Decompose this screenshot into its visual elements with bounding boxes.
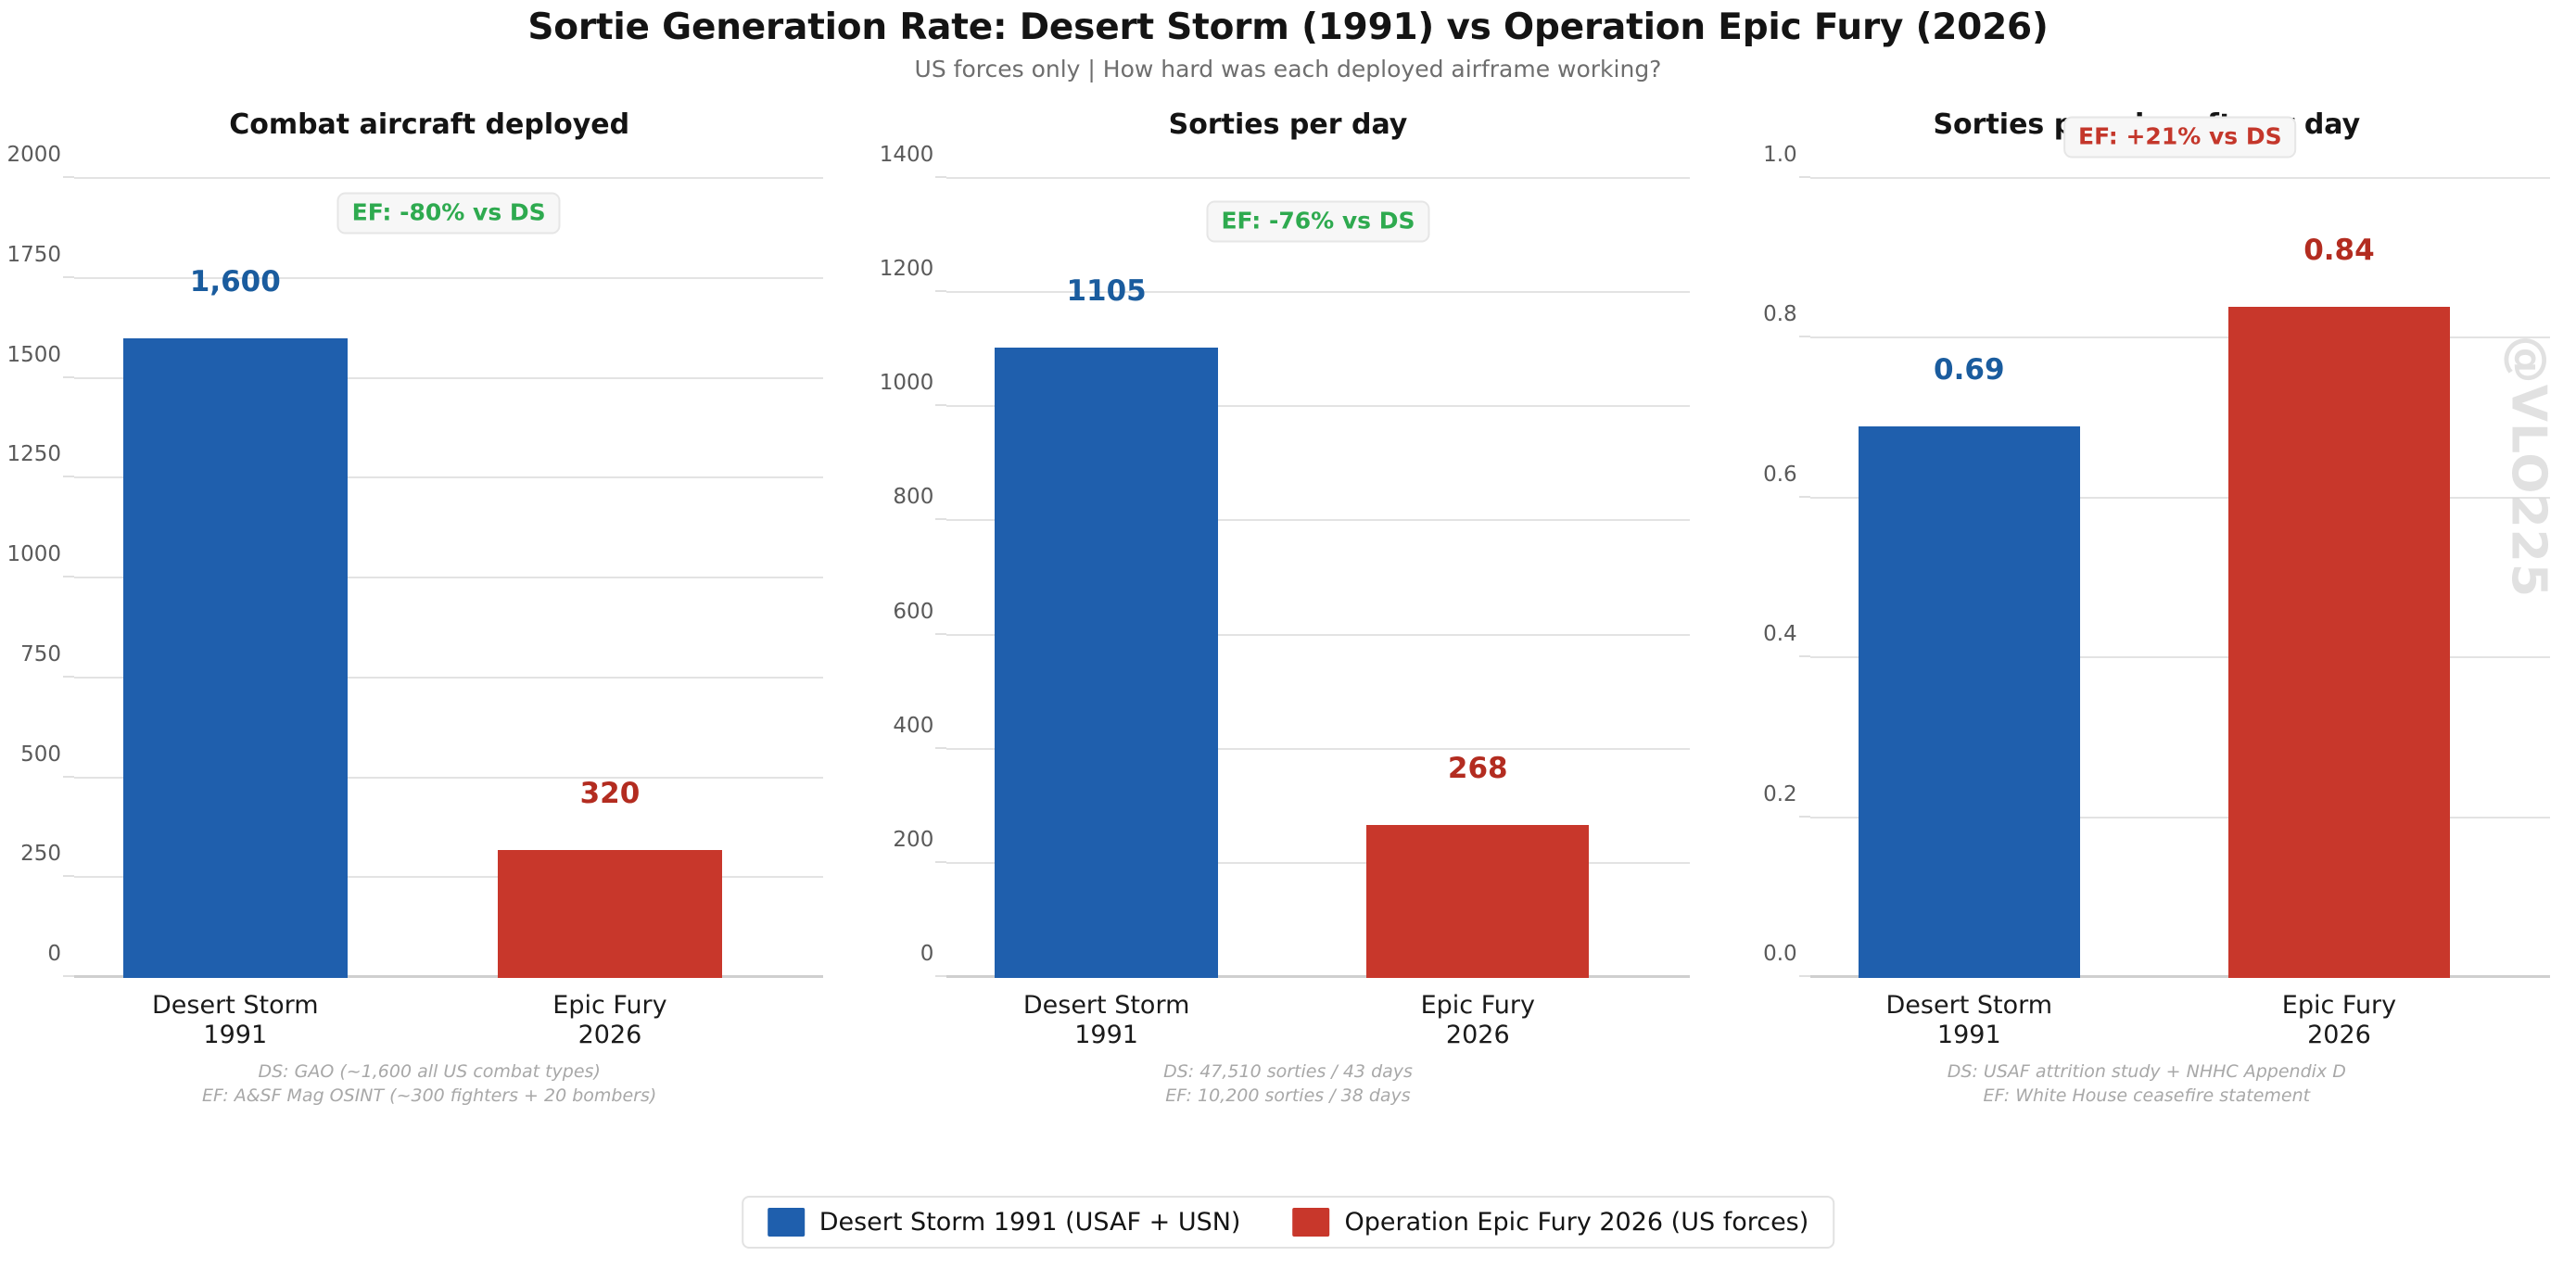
y-tick-mark — [1799, 816, 1810, 818]
panel-footnote: DS: 47,510 sorties / 43 daysEF: 10,200 s… — [858, 1060, 1717, 1108]
y-tick-mark — [63, 676, 74, 678]
y-tick-mark — [63, 476, 74, 477]
legend-item[interactable]: Desert Storm 1991 (USAF + USN) — [768, 1208, 1241, 1237]
y-tick-label: 750 — [20, 642, 61, 666]
x-tick-label: Epic Fury2026 — [2282, 991, 2396, 1050]
y-tick-mark — [63, 875, 74, 877]
y-tick-mark — [935, 518, 946, 520]
y-tick-mark — [63, 776, 74, 778]
y-tick-label: 1750 — [6, 243, 61, 267]
bar-value-label: 1105 — [1066, 277, 1146, 306]
bar-value-label: 1,600 — [190, 268, 281, 297]
y-tick-label: 1200 — [880, 257, 934, 281]
y-tick-label: 1400 — [880, 143, 934, 167]
y-tick-label: 1.0 — [1763, 143, 1797, 167]
y-tick-label: 0 — [47, 942, 61, 966]
bar-value-label: 320 — [580, 780, 641, 808]
x-axis-labels: Desert Storm1991Epic Fury2026 — [946, 978, 1689, 1071]
y-tick-label: 200 — [893, 828, 933, 852]
figure-subtitle: US forces only | How hard was each deplo… — [0, 57, 2576, 81]
y-tick-mark — [63, 576, 74, 577]
y-tick-label: 800 — [893, 485, 933, 509]
panel-footnote: DS: USAF attrition study + NHHC Appendix… — [1718, 1060, 2576, 1108]
footnote-line: DS: 47,510 sorties / 43 days — [858, 1060, 1717, 1084]
bar-ds[interactable] — [995, 348, 1217, 978]
plot-area: 0.00.20.40.60.81.0 0.690.84EF: +21% vs D… — [1810, 179, 2550, 978]
y-tick-label: 1500 — [6, 343, 61, 367]
bar-value-label: 0.69 — [1934, 356, 2005, 385]
x-axis-labels: Desert Storm1991Epic Fury2026 — [1810, 978, 2550, 1071]
y-tick-mark — [935, 176, 946, 178]
legend-item[interactable]: Operation Epic Fury 2026 (US forces) — [1292, 1208, 1808, 1237]
x-tick-label: Desert Storm1991 — [1886, 991, 2053, 1050]
y-tick-mark — [935, 975, 946, 977]
bar-ef[interactable] — [498, 850, 722, 978]
footnote-line: DS: USAF attrition study + NHHC Appendix… — [1718, 1060, 2576, 1084]
panel-title: Sorties per day — [858, 97, 1717, 139]
footnote-line: EF: White House ceasefire statement — [1718, 1084, 2576, 1108]
y-tick-mark — [1799, 176, 1810, 178]
y-tick-label: 0.2 — [1763, 782, 1797, 806]
y-tick-mark — [63, 176, 74, 178]
plot-area: 0200400600800100012001400 1105268EF: -76… — [946, 179, 1689, 978]
chart-panels: Combat aircraft deployed 025050075010001… — [0, 97, 2576, 1136]
y-tick-mark — [935, 861, 946, 863]
bar-ds[interactable] — [1859, 426, 2080, 978]
y-tick-label: 1000 — [880, 371, 934, 395]
footnote-line: EF: 10,200 sorties / 38 days — [858, 1084, 1717, 1108]
y-tick-label: 500 — [20, 742, 61, 767]
footnote-line: DS: GAO (~1,600 all US combat types) — [0, 1060, 858, 1084]
bar-ds[interactable] — [123, 338, 348, 978]
panel-footnote: DS: GAO (~1,600 all US combat types)EF: … — [0, 1060, 858, 1108]
y-tick-label: 1000 — [6, 542, 61, 566]
y-tick-label: 0.6 — [1763, 463, 1797, 487]
y-tick-mark — [1799, 655, 1810, 657]
panel-sorties-per-day: Sorties per day 020040060080010001200140… — [858, 97, 1717, 1136]
bar-value-label: 268 — [1448, 755, 1508, 783]
panel-combat-aircraft-deployed: Combat aircraft deployed 025050075010001… — [0, 97, 858, 1136]
bars: 0.690.84EF: +21% vs DS — [1810, 179, 2550, 978]
panel-sorties-per-aircraft-per-day: Sorties per aircraft per day 0.00.20.40.… — [1718, 97, 2576, 1136]
y-tick-label: 0.4 — [1763, 622, 1797, 646]
y-tick-label: 600 — [893, 600, 933, 624]
y-tick-mark — [935, 633, 946, 635]
y-tick-mark — [1799, 336, 1810, 337]
bars: 1,600320EF: -80% vs DS — [74, 179, 823, 978]
y-tick-mark — [1799, 975, 1810, 977]
legend-label: Desert Storm 1991 (USAF + USN) — [819, 1210, 1241, 1235]
y-tick-label: 0.0 — [1763, 942, 1797, 966]
x-tick-label: Desert Storm1991 — [1023, 991, 1190, 1050]
y-tick-mark — [935, 747, 946, 749]
bar-ef[interactable] — [1366, 825, 1589, 978]
bar-value-label: 0.84 — [2303, 236, 2375, 265]
y-tick-label: 0 — [920, 942, 934, 966]
watermark: @VLO225 — [2500, 336, 2556, 598]
legend-swatch — [768, 1208, 805, 1237]
x-axis-labels: Desert Storm1991Epic Fury2026 — [74, 978, 823, 1071]
chart-legend: Desert Storm 1991 (USAF + USN)Operation … — [742, 1196, 1835, 1249]
y-tick-label: 1250 — [6, 442, 61, 466]
plot-area: 025050075010001250150017502000 1,600320E… — [74, 179, 823, 978]
bars: 1105268EF: -76% vs DS — [946, 179, 1689, 978]
y-tick-mark — [63, 975, 74, 977]
y-tick-label: 400 — [893, 714, 933, 738]
y-tick-mark — [935, 404, 946, 406]
footnote-line: EF: A&SF Mag OSINT (~300 fighters + 20 b… — [0, 1084, 858, 1108]
legend-swatch — [1292, 1208, 1329, 1237]
y-tick-label: 2000 — [6, 143, 61, 167]
y-tick-mark — [1799, 496, 1810, 498]
delta-badge: EF: +21% vs DS — [2063, 117, 2297, 159]
bar-ef[interactable] — [2228, 307, 2450, 978]
y-tick-label: 0.8 — [1763, 302, 1797, 326]
x-tick-label: Epic Fury2026 — [552, 991, 666, 1050]
legend-label: Operation Epic Fury 2026 (US forces) — [1344, 1210, 1808, 1235]
x-tick-label: Epic Fury2026 — [1421, 991, 1535, 1050]
y-tick-label: 250 — [20, 842, 61, 866]
y-tick-mark — [935, 290, 946, 292]
delta-badge: EF: -80% vs DS — [337, 192, 561, 234]
figure-header: Sortie Generation Rate: Desert Storm (19… — [0, 0, 2576, 81]
delta-badge: EF: -76% vs DS — [1206, 200, 1429, 242]
y-tick-mark — [63, 376, 74, 378]
x-tick-label: Desert Storm1991 — [152, 991, 319, 1050]
panel-title: Combat aircraft deployed — [0, 97, 858, 139]
figure-title: Sortie Generation Rate: Desert Storm (19… — [0, 9, 2576, 45]
y-tick-mark — [63, 276, 74, 278]
